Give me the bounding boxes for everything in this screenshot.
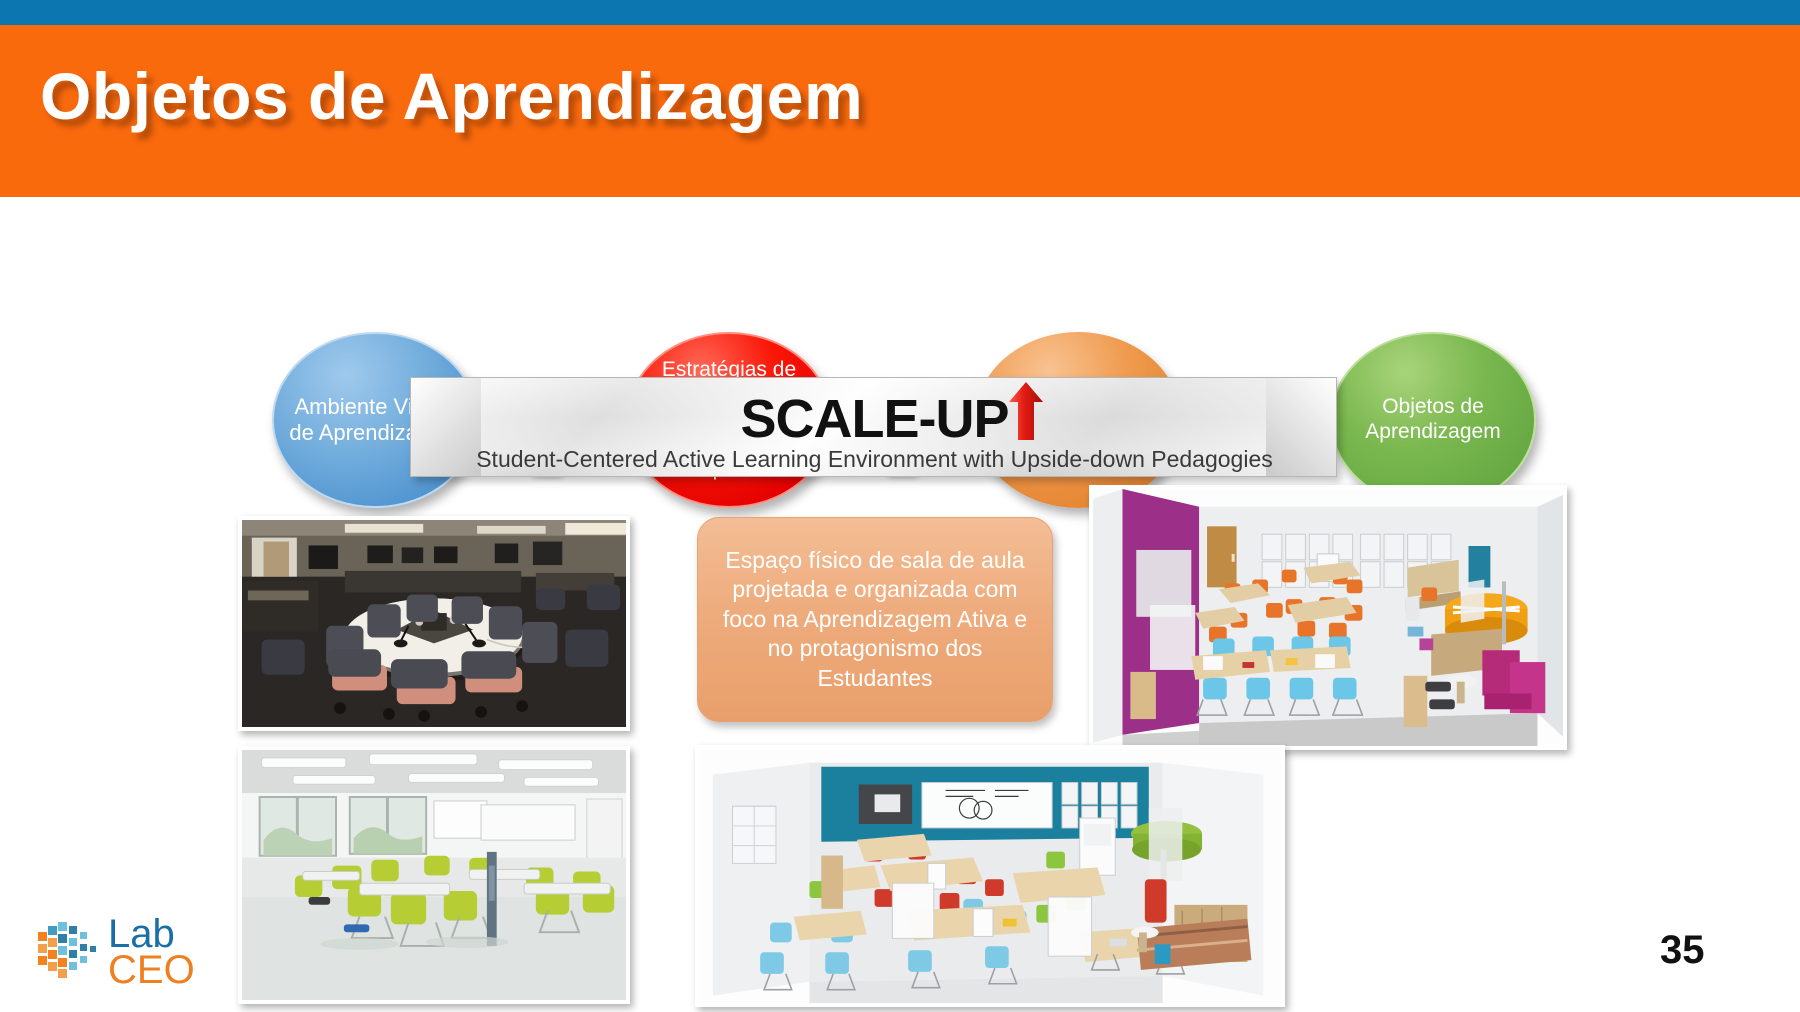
- scaleup-banner: SCALE-UP Student-Centered Active Learnin…: [410, 377, 1337, 477]
- scaleup-tagline: Student-Centered Active Learning Environ…: [411, 446, 1337, 473]
- top-accent-bar: [0, 0, 1800, 25]
- slide: Objetos de Aprendizagem Ambiente Virtual…: [0, 0, 1800, 1012]
- page-title: Objetos de Aprendizagem: [40, 58, 863, 134]
- photo-scaleup-round-table-image: [242, 520, 626, 731]
- term-circle-objetos-aprendizagem[interactable]: Objetos de Aprendizagem: [1330, 332, 1536, 508]
- photo-bright-classroom-image: [242, 750, 626, 1003]
- page-number: 35: [1660, 928, 1750, 973]
- equation-row: Ambiente Virtual de Aprendizagem Estraté…: [0, 166, 1800, 346]
- labceo-logo-mark-icon: [32, 916, 100, 984]
- photo-3d-teal-image: [699, 749, 1281, 1007]
- photo-3d-classroom-teal-wall: [695, 745, 1285, 1007]
- photo-3d-purple-image: [1093, 489, 1563, 750]
- term-label-objetos-aprendizagem: Objetos de Aprendizagem: [1332, 395, 1534, 445]
- photo-bright-classroom-green-chairs: [238, 746, 630, 1004]
- photo-scaleup-round-table: [238, 516, 630, 731]
- callout-text: Espaço físico de sala de aula projetada …: [720, 546, 1030, 693]
- labceo-logo: Lab CEO: [32, 914, 212, 988]
- labceo-logo-ceo-text: CEO: [108, 948, 195, 993]
- photo-3d-classroom-purple-wall: [1089, 485, 1567, 750]
- callout-box: Espaço físico de sala de aula projetada …: [697, 517, 1053, 722]
- scaleup-wordmark: SCALE-UP: [411, 388, 1337, 450]
